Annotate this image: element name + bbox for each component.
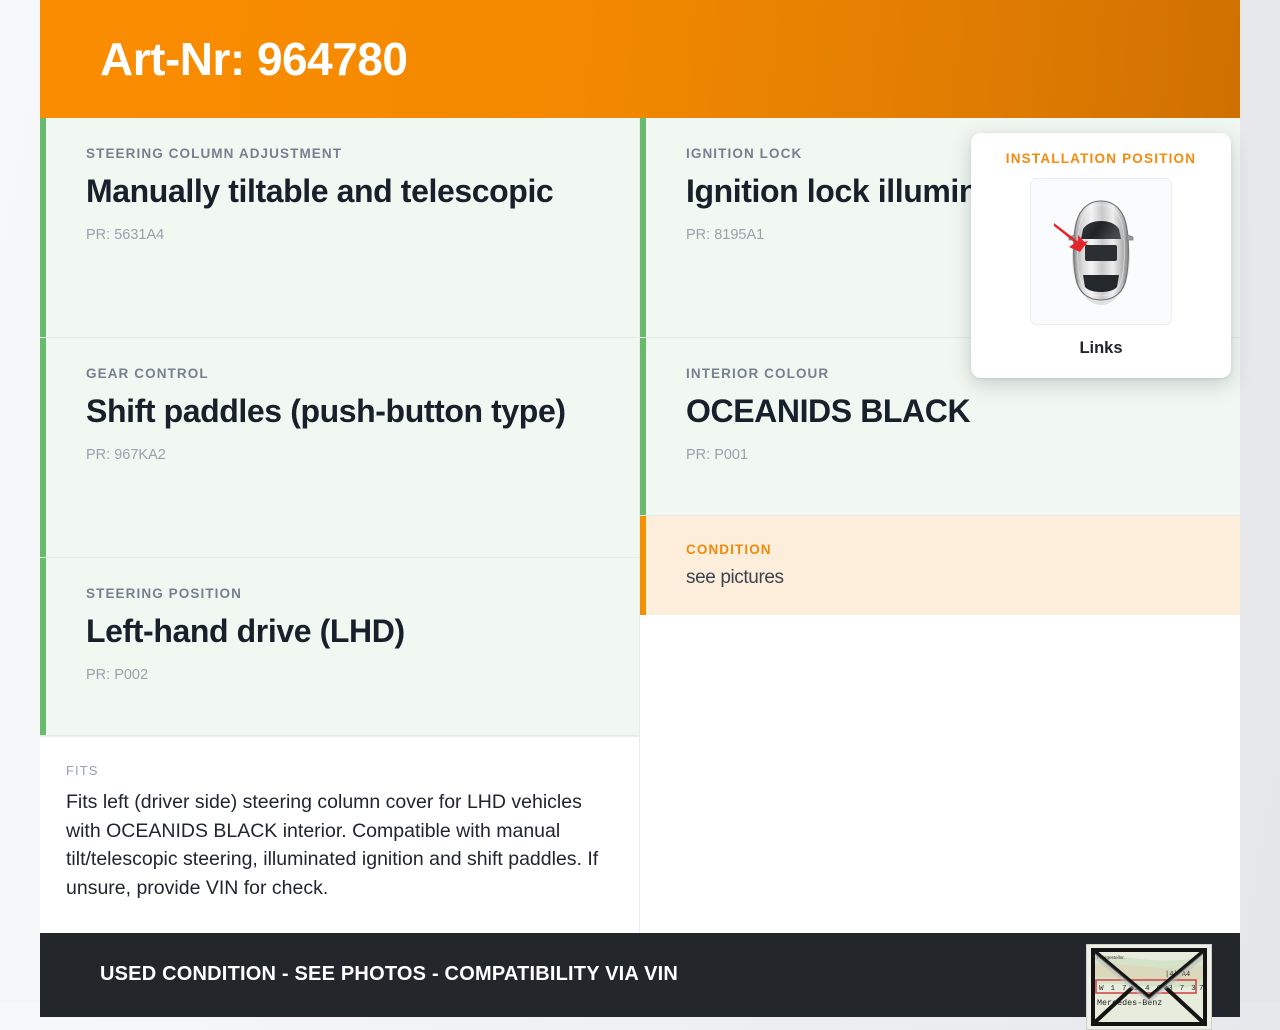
spec-pr-code: PR: P001 bbox=[686, 447, 1240, 463]
right-column-spacer bbox=[640, 615, 1240, 933]
specs-area: STEERING COLUMN ADJUSTMENT Manually tilt… bbox=[40, 118, 1240, 933]
spec-pr-code: PR: 967KA2 bbox=[86, 447, 639, 463]
spec-value: Left-hand drive (LHD) bbox=[86, 610, 626, 653]
spec-label: GEAR CONTROL bbox=[86, 366, 639, 381]
vehicle-registration-thumbnail[interactable]: Fahrgestellnr. |4| A4 W 1 7 1 4 6 3 7 3 … bbox=[1086, 944, 1212, 1030]
spec-value: Shift paddles (push-button type) bbox=[86, 390, 626, 433]
spec-label: STEERING COLUMN ADJUSTMENT bbox=[86, 146, 639, 161]
installation-position-caption: Links bbox=[971, 339, 1231, 358]
condition-card[interactable]: CONDITION see pictures bbox=[640, 516, 1240, 615]
car-top-view-icon bbox=[1031, 179, 1171, 324]
installation-position-title: INSTALLATION POSITION bbox=[971, 151, 1231, 166]
spec-column-left: STEERING COLUMN ADJUSTMENT Manually tilt… bbox=[40, 118, 640, 933]
svg-text:7: 7 bbox=[1199, 985, 1204, 993]
spec-pr-code: PR: P002 bbox=[86, 667, 639, 683]
condition-label: CONDITION bbox=[686, 542, 1240, 557]
spec-pr-code: PR: 5631A4 bbox=[86, 227, 639, 243]
spec-card-steering-column-adjustment[interactable]: STEERING COLUMN ADJUSTMENT Manually tilt… bbox=[40, 118, 639, 338]
installation-position-card[interactable]: INSTALLATION POSITION bbox=[971, 133, 1231, 378]
page-header: Art-Nr: 964780 bbox=[40, 0, 1240, 118]
fits-section: FITS Fits left (driver side) steering co… bbox=[40, 736, 639, 933]
car-diagram bbox=[1030, 178, 1172, 325]
spec-value: Manually tiltable and telescopic bbox=[86, 170, 626, 213]
spec-card-gear-control[interactable]: GEAR CONTROL Shift paddles (push-button … bbox=[40, 338, 639, 558]
envelope-over-vehicle-registration-icon: Fahrgestellnr. |4| A4 W 1 7 1 4 6 3 7 3 … bbox=[1087, 945, 1211, 1029]
product-detail-page: Art-Nr: 964780 STEERING COLUMN ADJUSTMEN… bbox=[40, 0, 1240, 1002]
page-title: Art-Nr: 964780 bbox=[100, 36, 407, 82]
spec-value: OCEANIDS BLACK bbox=[686, 390, 1226, 433]
page-footer: USED CONDITION - SEE PHOTOS - COMPATIBIL… bbox=[40, 933, 1240, 1017]
fits-label: FITS bbox=[66, 763, 599, 778]
spec-label: STEERING POSITION bbox=[86, 586, 639, 601]
footer-notice: USED CONDITION - SEE PHOTOS - COMPATIBIL… bbox=[100, 963, 678, 986]
condition-value: see pictures bbox=[686, 566, 1226, 591]
fits-description: Fits left (driver side) steering column … bbox=[66, 788, 599, 903]
spec-card-steering-position[interactable]: STEERING POSITION Left-hand drive (LHD) … bbox=[40, 558, 639, 736]
